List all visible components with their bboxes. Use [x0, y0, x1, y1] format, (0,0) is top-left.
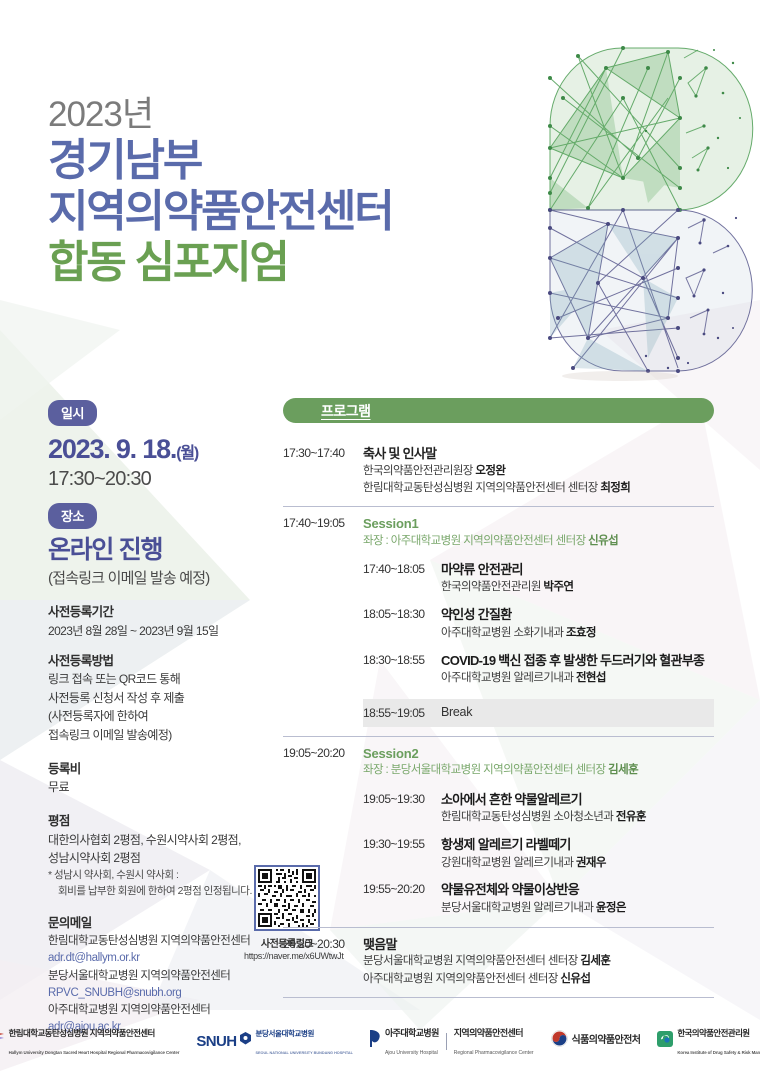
speaker-org: 한림대학교동탄성심병원 지역의약품안전센터 센터장 [363, 482, 600, 494]
fee-block: 등록비 무료 [48, 760, 280, 797]
speaker-name: 박주연 [543, 581, 573, 593]
speaker-org: 아주대학교병원 알레르기내과 [441, 672, 576, 684]
speaker-org: 한국의약품안전관리원장 [363, 465, 475, 477]
chair-name: 김세훈 [608, 764, 638, 776]
break-label: Break [441, 705, 472, 720]
event-place-note: (접속링크 이메일 발송 예정) [48, 567, 280, 588]
speaker-org: 분당서울대학교병원 알레르기내과 [441, 902, 596, 914]
logo-snuh: SNUH 분당서울대학교병원 SEOUL NATIONAL UNIVERSITY… [196, 1023, 353, 1059]
speaker-name: 권재우 [576, 857, 606, 869]
talk-speaker: 한국의약품안전관리원 박주연 [441, 579, 714, 597]
talk-title: 소아에서 흔한 약물알레르기 [441, 791, 714, 809]
capsule-network-graphic [528, 38, 760, 383]
fee-value: 무료 [48, 778, 280, 797]
logo-name-en: Ajou University Hospital [385, 1050, 438, 1056]
program-row-title: 맺음말 [363, 936, 714, 954]
logo-mfds: 식품의약품안전처 [551, 1030, 641, 1052]
chair-name: 신유섭 [588, 535, 618, 547]
speaker-org: 한림대학교동탄성심병원 소아청소년과 [441, 811, 616, 823]
snuh-logo-icon [240, 1032, 251, 1050]
speaker-org: 분당서울대학교병원 지역의약품안전센터 센터장 [363, 955, 580, 967]
event-time: 17:30~20:30 [48, 468, 280, 491]
talk-time: 19:55~20:20 [363, 881, 441, 917]
logo-kids: 한국의약품안전관리원 Korea Institute of Drug Safet… [657, 1023, 760, 1059]
logo-name-kr: 한림대학교동탄성심병원 지역의약품안전센터 [9, 1028, 155, 1038]
break-time: 18:55~19:05 [363, 705, 441, 720]
program-row-time: 17:30~17:40 [283, 445, 363, 497]
talk-time: 19:30~19:55 [363, 836, 441, 872]
talk-time: 17:40~18:05 [363, 561, 441, 597]
talk-title: COVID-19 백신 접종 후 발생한 두드러기와 혈관부종 [441, 652, 714, 670]
logo-name-kr: 분당서울대학교병원 [255, 1029, 314, 1038]
title-line-3: 합동 심포지엄 [48, 237, 528, 288]
speaker-name: 김세훈 [580, 955, 610, 967]
speaker-name: 신유섭 [560, 973, 590, 985]
sponsor-logo-bar: 한림대학교동탄성심병원 지역의약품안전센터 Hallym University … [0, 1023, 760, 1059]
program-row-session1: 17:40~19:05 Session1 좌장 : 아주대학교병원 지역의약품안… [283, 507, 714, 737]
program-row-session2: 19:05~20:20 Session2 좌장 : 분당서울대학교병원 지역의약… [283, 737, 714, 928]
talk-speaker: 강원대학교병원 알레르기내과 권재우 [441, 855, 714, 873]
program-row-time: 20:20~20:30 [283, 936, 363, 988]
event-date-text: 2023. 9. 18. [48, 434, 176, 464]
session-chair: 좌장 : 아주대학교병원 지역의약품안전센터 센터장 신유섭 [363, 533, 714, 550]
preregister-method-line-1: 링크 접속 또는 QR코드 통해 [48, 670, 280, 689]
chair-org: 좌장 : 분당서울대학교병원 지역의약품안전센터 센터장 [363, 764, 608, 776]
poster-title-block: 2023년 경기남부 지역의약품안전센터 합동 심포지엄 [48, 95, 528, 288]
title-year: 2023년 [48, 95, 528, 135]
talk-speaker: 분당서울대학교병원 알레르기내과 윤정은 [441, 900, 714, 918]
program-header-bar: 프로그램 [283, 398, 714, 423]
talk-title: 마약류 안전관리 [441, 561, 714, 579]
preregister-method-line-2: 사전등록 신청서 작성 후 제출 [48, 689, 280, 708]
event-day-of-week: (월) [176, 445, 198, 462]
chair-org: 좌장 : 아주대학교병원 지역의약품안전센터 센터장 [363, 535, 588, 547]
ajou-logo-icon [370, 1030, 381, 1052]
speaker-name: 전유훈 [616, 811, 646, 823]
place-badge: 장소 [48, 503, 97, 529]
title-line-1: 경기남부 [48, 135, 528, 186]
title-line-2: 지역의약품안전센터 [48, 186, 528, 237]
credits-line-1: 대한의사협회 2평점, 수원시약사회 2평점, [48, 831, 280, 850]
preregister-method-label: 사전등록방법 [48, 652, 280, 671]
logo-name-kr: 식품의약품안전처 [572, 1035, 641, 1047]
preregister-period-label: 사전등록기간 [48, 603, 280, 622]
program-rows: 17:30~17:40 축사 및 인사말 한국의약품안전관리원장 오정완 한림대… [283, 437, 714, 998]
speaker-name: 오정완 [475, 465, 505, 477]
event-date: 2023. 9. 18.(월) [48, 435, 280, 465]
session-chair: 좌장 : 분당서울대학교병원 지역의약품안전센터 센터장 김세훈 [363, 762, 714, 779]
logo-name-kr: 한국의약품안전관리원 [677, 1028, 749, 1038]
program-row: 17:30~17:40 축사 및 인사말 한국의약품안전관리원장 오정완 한림대… [283, 437, 714, 507]
event-place: 온라인 진행 [48, 537, 280, 565]
mfds-logo-icon [551, 1030, 568, 1052]
program-row-speaker: 아주대학교병원 지역의약품안전센터 센터장 신유섭 [363, 971, 714, 988]
program-row-closing: 20:20~20:30 맺음말 분당서울대학교병원 지역의약품안전센터 센터장 … [283, 928, 714, 998]
talk-title: 항생제 알레르기 라벨떼기 [441, 836, 714, 854]
hallym-swoosh-icon [0, 1032, 5, 1051]
preregister-method-line-3: (사전등록자에 한하여 [48, 707, 280, 726]
talk-item: 18:05~18:30 약인성 간질환 아주대학교병원 소화기내과 조효정 [363, 606, 714, 642]
speaker-org: 아주대학교병원 소화기내과 [441, 627, 566, 639]
talk-item: 17:40~18:05 마약류 안전관리 한국의약품안전관리원 박주연 [363, 561, 714, 597]
talk-time: 18:30~18:55 [363, 652, 441, 688]
session-title: Session2 [363, 745, 714, 763]
logo-hallym: 한림대학교동탄성심병원 지역의약품안전센터 Hallym University … [0, 1023, 179, 1059]
program-row-time: 19:05~20:20 [283, 745, 363, 918]
preregistration-block: 사전등록기간 2023년 8월 28일 ~ 2023년 9월 15일 사전등록방… [48, 603, 280, 744]
logo-name-kr: 아주대학교병원 [385, 1028, 439, 1038]
session-title: Session1 [363, 515, 714, 533]
talk-item: 19:05~19:30 소아에서 흔한 약물알레르기 한림대학교동탄성심병원 소… [363, 791, 714, 827]
logo-name-en: Korea Institute of Drug Safety & Risk Ma… [677, 1050, 760, 1055]
program-row-speaker: 한국의약품안전관리원장 오정완 [363, 463, 714, 480]
program-column: 프로그램 17:30~17:40 축사 및 인사말 한국의약품안전관리원장 오정… [283, 398, 714, 998]
contact-email-2[interactable]: RPVC_SNUBH@snubh.org [48, 985, 280, 1002]
speaker-name: 최정희 [600, 482, 630, 494]
talk-time: 18:05~18:30 [363, 606, 441, 642]
talk-item: 18:30~18:55 COVID-19 백신 접종 후 발생한 두드러기와 혈… [363, 652, 714, 688]
poster-canvas: 2023년 경기남부 지역의약품안전센터 합동 심포지엄 [0, 0, 760, 1071]
program-row-speaker: 분당서울대학교병원 지역의약품안전센터 센터장 김세훈 [363, 953, 714, 970]
speaker-name: 전현섭 [576, 672, 606, 684]
contact-org-3: 아주대학교병원 지역의약품안전센터 [48, 1002, 280, 1019]
program-row-time: 17:40~19:05 [283, 515, 363, 727]
talk-title: 약인성 간질환 [441, 606, 714, 624]
speaker-org: 강원대학교병원 알레르기내과 [441, 857, 576, 869]
kids-logo-icon [657, 1031, 673, 1052]
logo-name-en-2: Regional Pharmacovigilance Center [454, 1050, 534, 1056]
contact-org-2: 분당서울대학교병원 지역의약품안전센터 [48, 968, 280, 985]
program-row-title: 축사 및 인사말 [363, 445, 714, 463]
snuh-wordmark: SNUH [196, 1033, 236, 1050]
speaker-org: 아주대학교병원 지역의약품안전센터 센터장 [363, 973, 560, 985]
speaker-org: 한국의약품안전관리원 [441, 581, 543, 593]
logo-ajou: 아주대학교병원 Ajou University Hospital 지역의약품안전… [370, 1023, 534, 1059]
logo-name-en: SEOUL NATIONAL UNIVERSITY BUNDANG HOSPIT… [255, 1051, 353, 1055]
date-badge: 일시 [48, 400, 97, 426]
preregister-method-line-4: 접속링크 이메일 발송예정) [48, 726, 280, 745]
speaker-name: 윤정은 [596, 902, 626, 914]
talk-speaker: 한림대학교동탄성심병원 소아청소년과 전유훈 [441, 809, 714, 827]
break-row: 18:55~19:05 Break [363, 699, 714, 727]
preregister-period-value: 2023년 8월 28일 ~ 2023년 9월 15일 [48, 622, 280, 641]
logo-name-kr-2: 지역의약품안전센터 [454, 1028, 523, 1038]
fee-label: 등록비 [48, 760, 280, 779]
talk-item: 19:30~19:55 항생제 알레르기 라벨떼기 강원대학교병원 알레르기내과… [363, 836, 714, 872]
speaker-name: 조효정 [566, 627, 596, 639]
event-info-column: 일시 2023. 9. 18.(월) 17:30~20:30 장소 온라인 진행… [48, 400, 280, 1037]
talk-item: 19:55~20:20 약물유전체와 약물이상반응 분당서울대학교병원 알레르기… [363, 881, 714, 917]
logo-divider [446, 1033, 447, 1050]
credits-label: 평점 [48, 812, 280, 831]
talk-speaker: 아주대학교병원 소화기내과 조효정 [441, 625, 714, 643]
program-header-label: 프로그램 [321, 401, 371, 421]
talk-speaker: 아주대학교병원 알레르기내과 전현섭 [441, 670, 714, 688]
talk-time: 19:05~19:30 [363, 791, 441, 827]
logo-name-en: Hallym University Dongtan Sacred Heart H… [9, 1050, 180, 1055]
program-row-speaker: 한림대학교동탄성심병원 지역의약품안전센터 센터장 최정희 [363, 480, 714, 497]
talk-title: 약물유전체와 약물이상반응 [441, 881, 714, 899]
